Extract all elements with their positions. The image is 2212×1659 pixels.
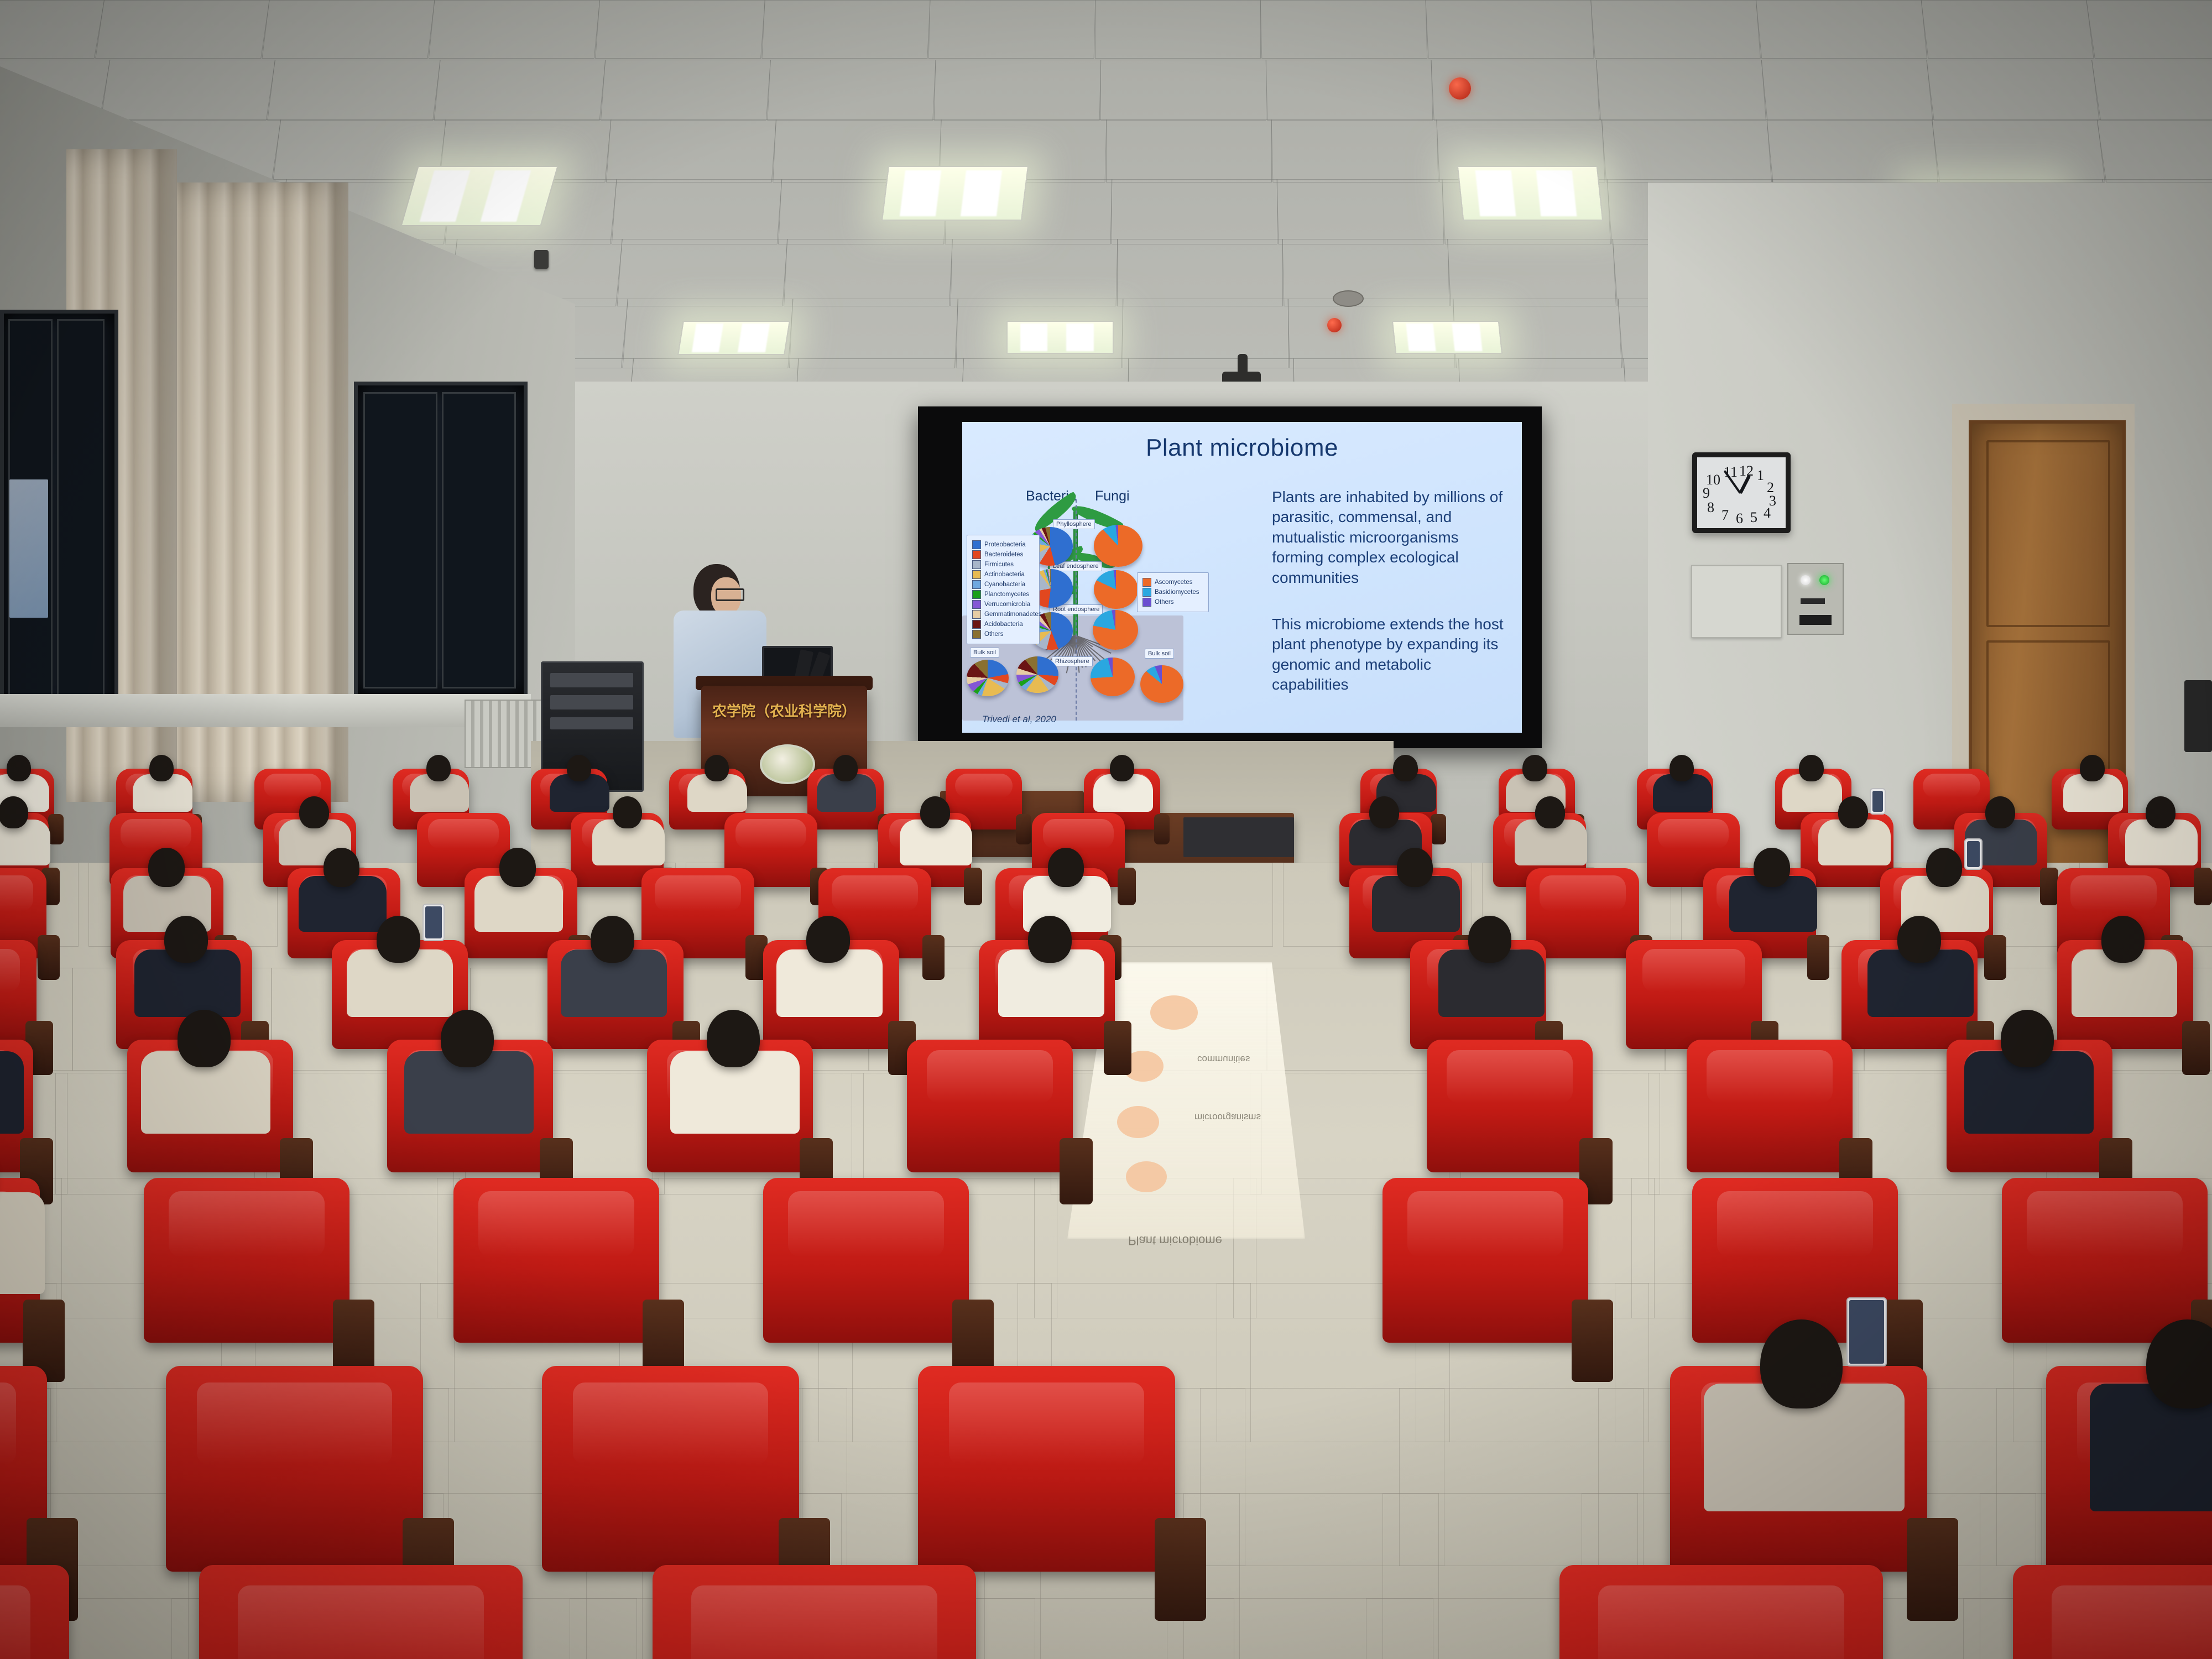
ceiling-tile [1112, 179, 1277, 244]
audience-member-head [2146, 796, 2176, 828]
legend-label: Acidobacteria [984, 621, 1023, 628]
legend-swatch [972, 620, 981, 629]
projection-screen-frame: Plant microbiome Bacteria Fungi Phyllosp… [918, 406, 1542, 748]
auditorium-seat[interactable] [166, 1366, 423, 1572]
auditorium-seat[interactable] [1383, 1178, 1588, 1343]
ceiling-tile [761, 0, 930, 59]
ceiling-tile [1447, 239, 1616, 306]
auditorium-seat[interactable] [2013, 1565, 2212, 1659]
legend-label: Ascomycetes [1155, 579, 1192, 586]
column-header-fungi: Fungi [1095, 488, 1130, 504]
phone-recording-slide[interactable] [1964, 838, 1983, 870]
fungi-legend-row: Others [1142, 598, 1203, 607]
legend-label: Bacteroidetes [984, 551, 1023, 558]
audience-member-head [441, 1010, 494, 1067]
ceiling-tile [1601, 119, 1772, 182]
ceiling-light-5 [677, 321, 790, 355]
bacteria-legend-row: Bacteroidetes [972, 550, 1034, 559]
audience-member-head [1522, 755, 1547, 781]
auditorium-seat[interactable] [653, 1565, 976, 1659]
beam-text-reflection-3: microorganisms [1194, 1112, 1261, 1123]
ceiling-tile [1117, 239, 1283, 306]
seat-armrest [48, 814, 64, 844]
ceiling-tile [934, 60, 1102, 121]
legend-swatch [972, 550, 981, 559]
fire-alarm-light [1449, 77, 1471, 100]
projector-arm [1238, 354, 1248, 376]
pie-bacteria-rhizosphere [1016, 656, 1058, 693]
legend-swatch [972, 570, 981, 579]
window-left-1 [0, 310, 118, 716]
bacteria-legend-row: Others [972, 630, 1034, 639]
fire-alarm-light-2 [1327, 318, 1342, 332]
legend-label: Cyanobacteria [984, 581, 1025, 588]
ceiling-tile [928, 0, 1096, 59]
audience-member-head [1897, 916, 1941, 963]
audience-member-head [2101, 916, 2145, 963]
ceiling-tile [617, 239, 788, 306]
auditorium-seat[interactable] [763, 1178, 969, 1343]
audience-member-coat [0, 1051, 24, 1134]
ceiling-tile [601, 60, 771, 121]
audience-member-head [1760, 1319, 1843, 1408]
audience-member-head [149, 755, 174, 781]
ceiling-light-1 [400, 166, 558, 226]
audience-member-head [1369, 796, 1399, 828]
pie-fungi-rhizosphere [1091, 658, 1135, 696]
ceiling-tile [1106, 119, 1272, 182]
podium-sign-text: 农学院（农业科学院） [701, 700, 867, 721]
beam-text-reflection-2: communities [1197, 1053, 1250, 1065]
ceiling-tile [612, 179, 782, 244]
legend-label: Actinobacteria [984, 571, 1025, 578]
ceiling-tile [1095, 0, 1261, 59]
ceiling-tile [1277, 179, 1444, 244]
ceiling-light-3 [1457, 166, 1603, 221]
bacteria-legend-row: Proteobacteria [972, 540, 1034, 549]
seat-armrest [2194, 868, 2212, 905]
audience-member-head [2001, 1010, 2054, 1067]
ceiling-tile [2097, 119, 2212, 182]
audience-member-head [1468, 916, 1512, 963]
beam-text-reflection-1: Plant microbiome [1128, 1233, 1222, 1248]
ceiling-tile [434, 60, 606, 121]
status-led-green [1819, 575, 1829, 585]
seat-armrest [1984, 935, 2007, 980]
audience-member-head [613, 796, 643, 828]
ceiling-tile [784, 239, 953, 306]
legend-swatch [972, 630, 981, 639]
ceiling-tile [429, 0, 600, 59]
seat-armrest [1572, 1300, 1613, 1382]
window-left-2 [354, 382, 528, 699]
ceiling-light-2 [881, 166, 1029, 221]
compartment-label-bulk-soil-right: Bulk soil [1145, 649, 1174, 659]
legend-label: Others [984, 631, 1004, 638]
beam-pie-3 [1117, 1106, 1159, 1138]
beam-pie-1 [1150, 995, 1198, 1030]
sprinkler-head [534, 250, 549, 269]
bacteria-legend-row: Gemmatimonadetes [972, 610, 1034, 619]
auditorium-seat[interactable] [0, 1565, 69, 1659]
audience-member-head [0, 796, 28, 828]
audience-member-head [1110, 755, 1134, 781]
ceiling-tile [595, 0, 765, 59]
seat-armrest [1016, 814, 1031, 844]
audience-member-head [1926, 848, 1962, 887]
bacteria-legend-row: Actinobacteria [972, 570, 1034, 579]
audience-member-head [299, 796, 329, 828]
ceiling-tile [267, 60, 441, 121]
auditorium-seat[interactable] [907, 1040, 1073, 1172]
bacteria-legend-row: Cyanobacteria [972, 580, 1034, 589]
ceiling-tile [1100, 60, 1266, 121]
control-box[interactable] [1787, 563, 1844, 635]
audience-member-head [920, 796, 950, 828]
seat-armrest [38, 935, 60, 980]
slide-body-paragraph-1: Plants are inhabited by millions of para… [1272, 487, 1504, 588]
auditorium-seat[interactable] [144, 1178, 349, 1343]
audience-member-head [1535, 796, 1565, 828]
ceiling-tile [2091, 60, 2212, 121]
audience-member-head [7, 755, 31, 781]
fungi-legend-row: Basidiomycetes [1142, 588, 1203, 597]
ceiling-tile [262, 0, 435, 59]
legend-swatch [972, 580, 981, 589]
bacteria-legend-row: Verrucomicrobia [972, 600, 1034, 609]
wall-access-panel [1691, 565, 1782, 638]
ceiling-tile [606, 119, 776, 182]
seat-armrest [1807, 935, 1830, 980]
audience-member-head [1985, 796, 2015, 828]
audience-member-head [591, 916, 634, 963]
audience-member-head [164, 916, 208, 963]
compartment-label-bulk-soil-left: Bulk soil [970, 648, 999, 658]
ceiling-tile [1766, 119, 1938, 182]
audience-member-head [1028, 916, 1072, 963]
audience-member-head [1048, 848, 1084, 887]
emergency-device [2184, 680, 2212, 752]
smoke-detector [1333, 290, 1364, 307]
fungi-legend: AscomycetesBasidiomycetesOthers [1137, 572, 1209, 612]
legend-swatch [972, 610, 981, 619]
audience-member-head [806, 916, 850, 963]
lecture-hall-photo: 10 11 12 1 2 3 4 5 6 7 8 9 Plant microbi… [0, 0, 2212, 1659]
podium-emblem [760, 744, 815, 784]
auditorium-seat[interactable] [1427, 1040, 1593, 1172]
beam-pie-4 [1126, 1161, 1167, 1192]
bacteria-legend-row: Planctomycetes [972, 590, 1034, 599]
audience-member-head [178, 1010, 231, 1067]
legend-swatch [1142, 578, 1151, 587]
seat-armrest [1907, 1518, 1958, 1621]
ceiling-tile [1271, 119, 1439, 182]
phone-recording-slide[interactable] [422, 904, 445, 941]
legend-swatch [972, 540, 981, 549]
seat-armrest [1155, 1518, 1206, 1621]
slide-body-paragraph-2: This microbiome extends the host plant p… [1272, 614, 1504, 695]
pie-fungi-root-endosphere [1093, 610, 1138, 650]
status-led-white [1801, 575, 1811, 585]
audience-member-head [2080, 755, 2104, 781]
legend-swatch [1142, 598, 1151, 607]
seat-armrest [964, 868, 983, 905]
seat-armrest [1104, 1021, 1131, 1075]
seat-armrest [1118, 868, 1136, 905]
ceiling-tile [767, 60, 936, 121]
seat-armrest [2182, 1021, 2209, 1075]
phone-recording-slide[interactable] [1846, 1297, 1886, 1366]
projected-slide: Plant microbiome Bacteria Fungi Phyllosp… [962, 422, 1522, 733]
bacteria-legend-row: Acidobacteria [972, 620, 1034, 629]
auditorium-seat[interactable] [918, 1366, 1175, 1572]
ceiling-tile [1932, 119, 2105, 182]
audience-member-head [1838, 796, 1868, 828]
auditorium-seat[interactable] [199, 1565, 523, 1659]
wall-clock: 10 11 12 1 2 3 4 5 6 7 8 9 [1692, 452, 1791, 533]
audience-member-head [707, 1010, 760, 1067]
seat-armrest [922, 935, 945, 980]
audience-member-head [1397, 848, 1433, 887]
audience-member-head [377, 916, 420, 963]
window-sill [0, 694, 531, 727]
legend-label: Others [1155, 599, 1174, 606]
ceiling-tile [951, 239, 1118, 306]
slide-citation: Trivedi et al, 2020 [982, 714, 1056, 725]
slide-title: Plant microbiome [962, 434, 1522, 462]
compartment-label-phyllosphere: Phyllosphere [1053, 519, 1095, 529]
ceiling-tile [1926, 60, 2100, 121]
ceiling-tile [1761, 60, 1933, 121]
auditorium-seat[interactable] [1526, 868, 1639, 958]
bacteria-legend: ProteobacteriaBacteroidetesFirmicutesAct… [967, 535, 1040, 644]
legend-swatch [972, 600, 981, 609]
seat-armrest [1431, 814, 1446, 844]
auditorium-seat[interactable] [542, 1366, 799, 1572]
seat-armrest [2040, 868, 2059, 905]
seat-armrest [1060, 1138, 1093, 1204]
ceiling-tile [95, 0, 270, 59]
pie-fungi-phyllosphere [1094, 525, 1142, 567]
audience-member-head [705, 755, 729, 781]
seat-armrest [1154, 814, 1170, 844]
audience-member-head [499, 848, 535, 887]
pie-fungi-bulk-soil--right- [1140, 665, 1183, 703]
bacteria-legend-row: Firmicutes [972, 560, 1034, 569]
audience-member-head [833, 755, 858, 781]
audience-member-coat [0, 1192, 45, 1295]
legend-label: Proteobacteria [984, 541, 1026, 548]
phone-recording-slide[interactable] [1870, 788, 1886, 815]
legend-swatch [1142, 588, 1151, 597]
ceiling-tile [101, 60, 275, 121]
ceiling-tile [1266, 60, 1433, 121]
audience-member-head [324, 848, 359, 887]
pie-bacteria-bulk-soil--left- [967, 660, 1009, 696]
front-table-cloth [1183, 817, 1294, 857]
ceiling-tile [1596, 60, 1766, 121]
pie-fungi-leaf-endosphere [1094, 570, 1138, 609]
ceiling-tile [1425, 0, 1594, 59]
ceiling-light-6 [1006, 321, 1114, 354]
ceiling-tile [1282, 239, 1450, 306]
auditorium-seat[interactable] [1626, 940, 1762, 1049]
legend-label: Verrucomicrobia [984, 601, 1030, 608]
fungi-legend-row: Ascomycetes [1142, 578, 1203, 587]
auditorium-seat[interactable] [1559, 1565, 1883, 1659]
ceiling-tile [0, 0, 105, 59]
audience-member-head [567, 755, 591, 781]
legend-label: Firmicutes [984, 561, 1014, 568]
auditorium-seat[interactable] [1687, 1040, 1853, 1172]
legend-label: Gemmatimonadetes [984, 611, 1042, 618]
legend-label: Planctomycetes [984, 591, 1029, 598]
speaker-glasses [716, 588, 744, 601]
ceiling-tile [1756, 0, 1927, 59]
audience-member-head [1799, 755, 1823, 781]
audience-member-head [1754, 848, 1790, 887]
ceiling-tile [1260, 0, 1428, 59]
auditorium-seat[interactable] [2002, 1178, 2208, 1343]
audience-member-head [1670, 755, 1694, 781]
ceiling-tile [1590, 0, 1761, 59]
legend-label: Basidiomycetes [1155, 589, 1199, 596]
compartment-label-rhizosphere: Rhizosphere [1052, 656, 1093, 666]
legend-swatch [972, 590, 981, 599]
legend-swatch [972, 560, 981, 569]
ceiling-tile [2086, 0, 2212, 59]
audience-member-head [1393, 755, 1417, 781]
slide-reflection-in-window [9, 479, 48, 618]
auditorium-seat[interactable] [453, 1178, 659, 1343]
audience-member-head [426, 755, 451, 781]
audience-member-head [148, 848, 184, 887]
ceiling-tile [1921, 0, 2094, 59]
ceiling-light-7 [1392, 321, 1503, 354]
